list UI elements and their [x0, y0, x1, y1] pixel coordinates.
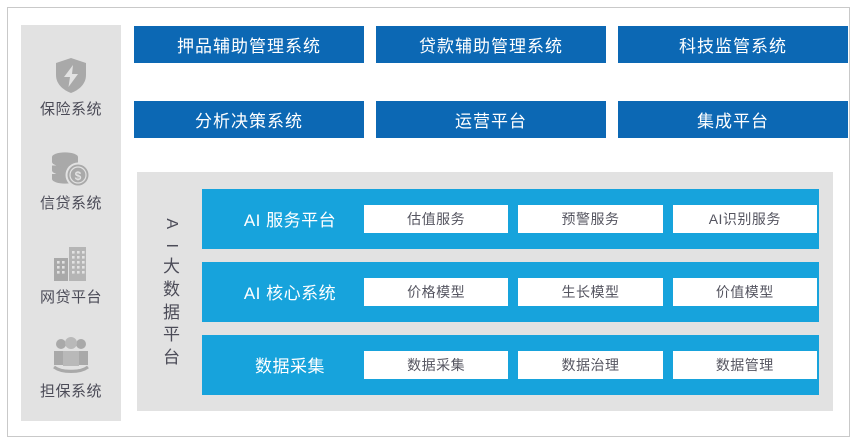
sidebar-item-online-lending[interactable]: 网贷平台	[21, 225, 121, 319]
architecture-diagram: 保险系统 $ 信贷系统	[0, 0, 857, 444]
ai-card[interactable]: 数据采集	[364, 351, 508, 379]
sidebar-item-guarantee[interactable]: 担保系统	[21, 319, 121, 413]
sidebar-item-label: 信贷系统	[40, 196, 102, 211]
sidebar-item-insurance[interactable]: 保险系统	[21, 37, 121, 131]
vertical-title-char: A	[162, 219, 182, 230]
ai-row-cards: 数据采集 数据治理 数据管理	[364, 351, 819, 379]
top-bar-row-1: 押品辅助管理系统 贷款辅助管理系统 科技监管系统	[134, 26, 848, 63]
system-bar-tech-regulation[interactable]: 科技监管系统	[618, 26, 848, 63]
vertical-title-char: 数	[163, 280, 180, 301]
ai-row-cards: 估值服务 预警服务 AI识别服务	[364, 205, 819, 233]
shield-bolt-icon	[48, 52, 94, 98]
ai-card[interactable]: 预警服务	[518, 205, 662, 233]
ai-card[interactable]: 数据治理	[518, 351, 662, 379]
sidebar-item-label: 网贷平台	[40, 290, 102, 305]
system-bar-analysis-decision[interactable]: 分析决策系统	[134, 101, 364, 138]
system-bar-operations-platform[interactable]: 运营平台	[376, 101, 606, 138]
ai-platform-rows: AI 服务平台 估值服务 预警服务 AI识别服务 AI 核心系统 价格模型 生长…	[202, 172, 833, 411]
buildings-icon	[48, 240, 94, 286]
ai-row-data-collection: 数据采集 数据采集 数据治理 数据管理	[202, 335, 819, 395]
vertical-title-char: 据	[163, 303, 180, 324]
sidebar-item-credit[interactable]: $ 信贷系统	[21, 131, 121, 225]
ai-row-title: 数据采集	[216, 352, 364, 377]
ai-card[interactable]: 数据管理	[673, 351, 817, 379]
ai-card[interactable]: 价值模型	[673, 278, 817, 306]
vertical-title-char: 大	[163, 257, 180, 278]
vertical-title-char: 平	[163, 325, 180, 346]
ai-row-title: AI 服务平台	[216, 206, 364, 231]
vertical-title-char: I	[162, 243, 182, 247]
ai-row-cards: 价格模型 生长模型 价值模型	[364, 278, 819, 306]
ai-card[interactable]: AI识别服务	[673, 205, 817, 233]
ai-row-title: AI 核心系统	[216, 279, 364, 304]
system-bar-integration-platform[interactable]: 集成平台	[618, 101, 848, 138]
ai-card[interactable]: 价格模型	[364, 278, 508, 306]
ai-platform-vertical-title: A I 大 数 据 平 台	[137, 172, 202, 411]
people-group-icon	[48, 334, 94, 380]
ai-row-core-system: AI 核心系统 价格模型 生长模型 价值模型	[202, 262, 819, 322]
top-bar-row-2: 分析决策系统 运营平台 集成平台	[134, 101, 848, 138]
svg-text:$: $	[75, 169, 82, 183]
ai-row-service-platform: AI 服务平台 估值服务 预警服务 AI识别服务	[202, 189, 819, 249]
sidebar: 保险系统 $ 信贷系统	[21, 25, 121, 421]
vertical-title-char: 台	[163, 348, 180, 369]
system-bar-collateral[interactable]: 押品辅助管理系统	[134, 26, 364, 63]
ai-card[interactable]: 估值服务	[364, 205, 508, 233]
sidebar-item-label: 担保系统	[40, 384, 102, 399]
sidebar-item-label: 保险系统	[40, 102, 102, 117]
coins-dollar-icon: $	[48, 146, 94, 192]
system-bar-loan[interactable]: 贷款辅助管理系统	[376, 26, 606, 63]
ai-bigdata-platform-panel: A I 大 数 据 平 台 AI 服务平台 估值服务 预警服务 AI识别服务 A…	[137, 172, 833, 411]
ai-card[interactable]: 生长模型	[518, 278, 662, 306]
